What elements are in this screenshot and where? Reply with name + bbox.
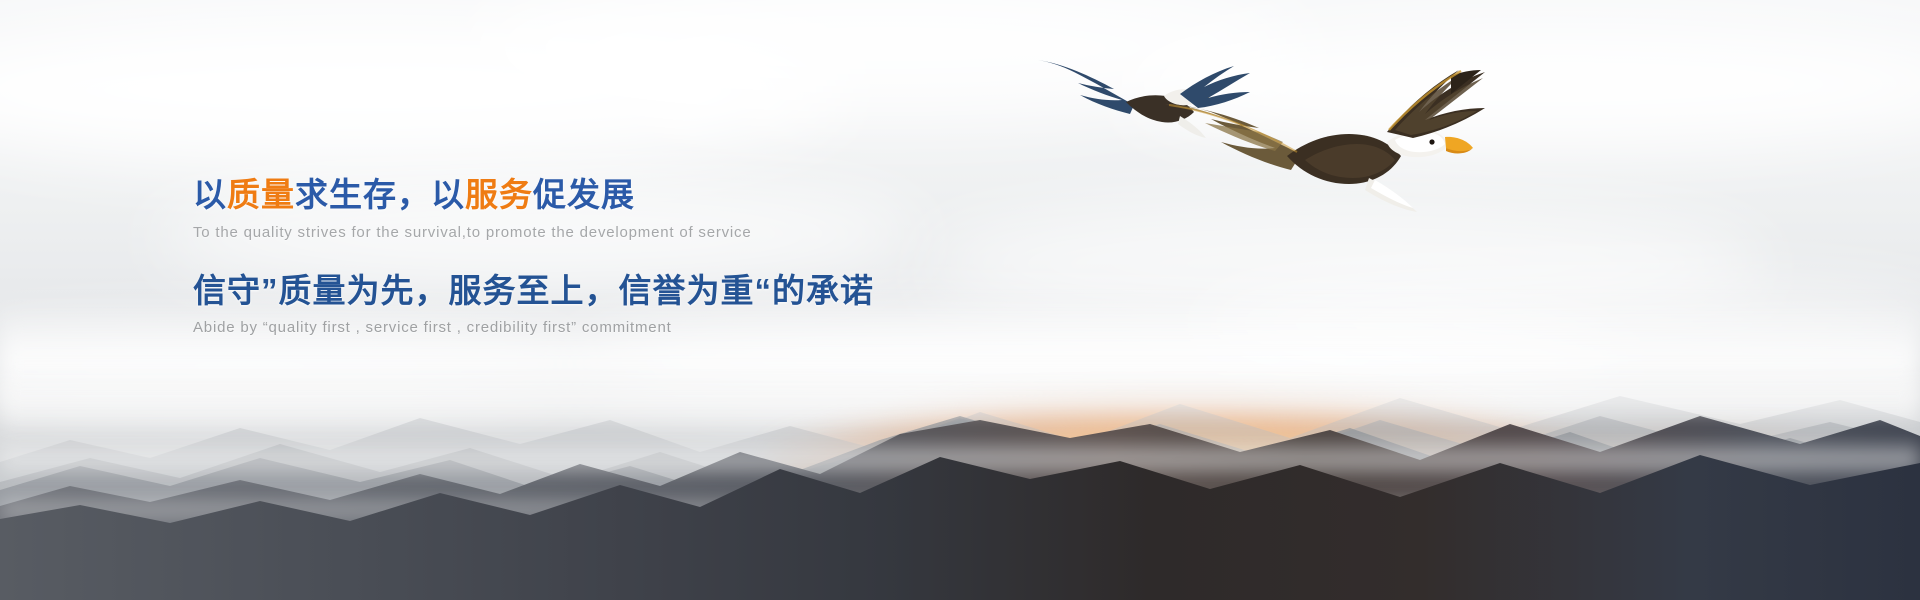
primary-slogan-accent: 服务 — [465, 176, 533, 213]
primary-slogan-part: 促发展 — [533, 176, 635, 213]
primary-slogan: 以质量求生存，以服务促发展 — [193, 176, 1093, 215]
hero-banner: 以质量求生存，以服务促发展 To the quality strives for… — [0, 0, 1920, 600]
primary-slogan-accent: 质量 — [227, 176, 295, 213]
cloud-wisp — [0, 12, 845, 168]
primary-slogan-part: 以 — [193, 176, 227, 213]
secondary-slogan: 信守”质量为先，服务至上，信誉为重“的承诺 — [193, 272, 1093, 311]
primary-slogan-part: 求生存，以 — [295, 176, 465, 213]
secondary-slogan-subtitle: Abide by “quality first , service first … — [193, 319, 1093, 336]
primary-slogan-subtitle: To the quality strives for the survival,… — [193, 224, 1093, 241]
eagle-icon — [1155, 32, 1490, 257]
slogan-copy-block: 以质量求生存，以服务促发展 To the quality strives for… — [193, 176, 1093, 336]
mountain-layer-front — [0, 435, 1920, 600]
